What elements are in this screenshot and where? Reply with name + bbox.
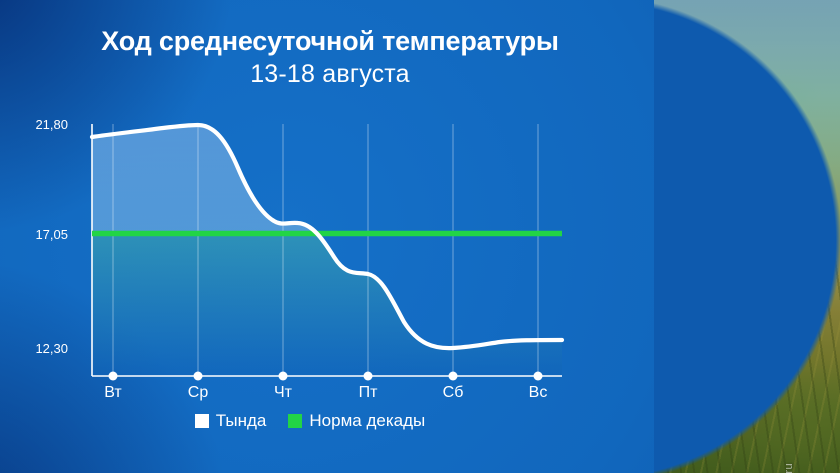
meadow-photo: sunhome.ru (654, 0, 840, 473)
x-axis-label-tue: Вт (83, 384, 143, 402)
legend-label-norm: Норма декады (309, 411, 425, 431)
legend-item-norm: Норма декады (288, 411, 425, 431)
x-axis-label-thu: Чт (253, 384, 313, 402)
chart-legend: Тында Норма декады (0, 411, 620, 431)
photo-left-curved-mask (654, 0, 840, 473)
legend-item-tynda: Тында (195, 411, 267, 431)
legend-label-tynda: Тында (216, 411, 267, 431)
x-axis-label-sun: Вс (508, 384, 568, 402)
chart-plot-area (0, 0, 620, 400)
series-area-glow (92, 125, 562, 376)
square-swatch-icon-tynda (195, 414, 209, 428)
temperature-chart: 21,80 17,05 12,30 (0, 0, 620, 440)
x-axis-label-wed: Ср (168, 384, 228, 402)
watermark-label: sunhome.ru (783, 463, 795, 473)
x-axis-label-fri: Пт (338, 384, 398, 402)
infographic-canvas: sunhome.ru Ход среднесуточной температур… (0, 0, 840, 473)
square-swatch-icon-norm (288, 414, 302, 428)
x-axis-label-sat: Сб (423, 384, 483, 402)
